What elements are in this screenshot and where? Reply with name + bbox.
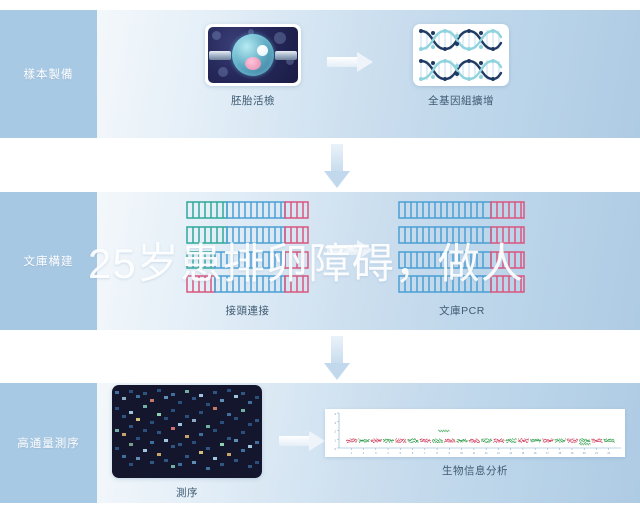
dna-helix-svg	[413, 24, 509, 86]
row-body-sequencing: 測序 0123412345678910111213141516171819202…	[97, 383, 640, 503]
row-body-sample-preparation: 胚胎活檢	[97, 10, 640, 138]
bubble-decor	[212, 31, 221, 40]
step-caption-library-pcr: 文庫PCR	[397, 303, 527, 318]
step-embryo-biopsy[interactable]: 胚胎活檢	[205, 24, 301, 108]
holding-pipette-icon	[209, 51, 231, 60]
arrow-shaft	[327, 57, 357, 67]
arrow-shaft	[279, 436, 309, 446]
biopsy-pipette-icon	[275, 51, 297, 60]
arrow-head	[324, 363, 350, 380]
bubble-decor	[274, 32, 286, 44]
dna-helix-icon	[413, 24, 509, 86]
embryo-background	[208, 27, 298, 83]
step-caption-sequencing: 測序	[112, 485, 262, 500]
row-label-library-construction: 文庫構建	[0, 192, 97, 330]
flowcell-icon	[112, 385, 262, 478]
blastocyst-icon	[232, 34, 274, 76]
workflow-row-library-construction: 文庫構建	[0, 192, 640, 330]
step-adapter-ligation[interactable]: 接頭連接	[185, 200, 310, 318]
step-caption-wga: 全基因組擴增	[413, 93, 509, 108]
step-caption-bioinformatics: 生物信息分析	[325, 463, 625, 478]
bubble-decor	[218, 67, 228, 77]
step-whole-genome-amplification[interactable]: 全基因組擴增	[413, 24, 509, 108]
step-library-pcr[interactable]: 文庫PCR	[397, 200, 527, 318]
arrow-head	[309, 431, 325, 451]
dna-ladder-icon	[397, 200, 527, 295]
pgt-workflow-diagram: 樣本製備	[0, 0, 640, 513]
workflow-row-sequencing: 高通量測序	[0, 383, 640, 503]
arrow-head	[357, 52, 373, 72]
inner-cell-mass-icon	[245, 57, 261, 70]
embryo-icon	[205, 24, 301, 86]
vacuole-icon	[257, 45, 268, 56]
flowcell-svg	[112, 385, 262, 478]
step-sequencing[interactable]: 測序	[112, 385, 262, 500]
row-label-sample-preparation: 樣本製備	[0, 10, 97, 138]
cnv-plot-svg: 0123412345678910111213141516171819202122	[325, 409, 625, 457]
cnv-plot-icon: 0123412345678910111213141516171819202122	[325, 409, 625, 457]
arrow-right-icon	[327, 52, 373, 72]
workflow-row-sample-preparation: 樣本製備	[0, 10, 640, 138]
arrow-shaft	[331, 336, 343, 364]
arrow-shaft	[331, 144, 343, 172]
step-caption-embryo-biopsy: 胚胎活檢	[205, 93, 301, 108]
step-caption-adapter-ligation: 接頭連接	[185, 303, 310, 318]
row-body-library-construction: 接頭連接	[97, 192, 640, 330]
dna-ladder-icon	[185, 200, 310, 295]
arrow-shaft	[327, 245, 357, 255]
arrow-down-icon-2	[324, 336, 350, 380]
step-bioinformatics[interactable]: 0123412345678910111213141516171819202122…	[325, 409, 625, 478]
row-label-sequencing: 高通量測序	[0, 383, 97, 503]
arrow-head	[357, 240, 373, 260]
arrow-head	[324, 171, 350, 188]
arrow-right-icon	[327, 240, 373, 260]
arrow-down-icon-1	[324, 144, 350, 188]
arrow-right-icon	[279, 431, 325, 451]
